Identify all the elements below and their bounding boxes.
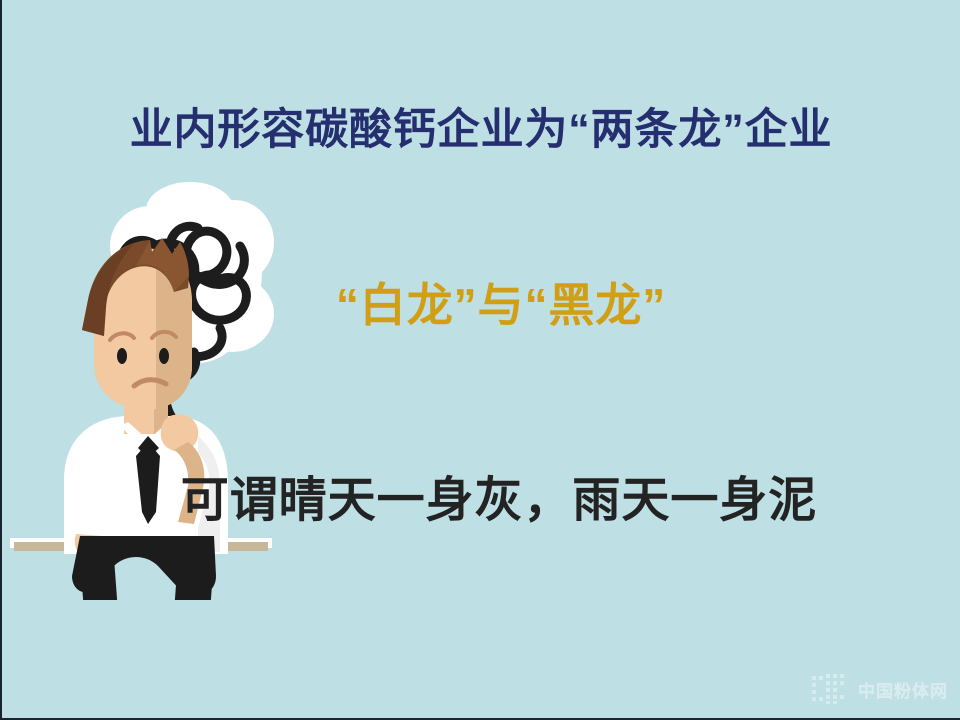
zhongguo-fentiwang-logo-icon bbox=[810, 672, 852, 706]
worried-businessman-illustration bbox=[2, 180, 342, 600]
slide-caption: 可谓晴天一身灰，雨天一身泥 bbox=[2, 473, 960, 528]
illustration-svg bbox=[2, 180, 342, 600]
watermark-text: 中国粉体网 bbox=[858, 677, 948, 702]
slide-subtitle: “白龙”与“黑龙” bbox=[2, 279, 960, 332]
watermark: 中国粉体网 bbox=[810, 672, 948, 706]
slide-canvas: 业内形容碳酸钙企业为“两条龙”企业 “白龙”与“黑龙” 可谓晴天一身灰，雨天一身… bbox=[0, 0, 960, 720]
slide-title: 业内形容碳酸钙企业为“两条龙”企业 bbox=[2, 106, 960, 155]
